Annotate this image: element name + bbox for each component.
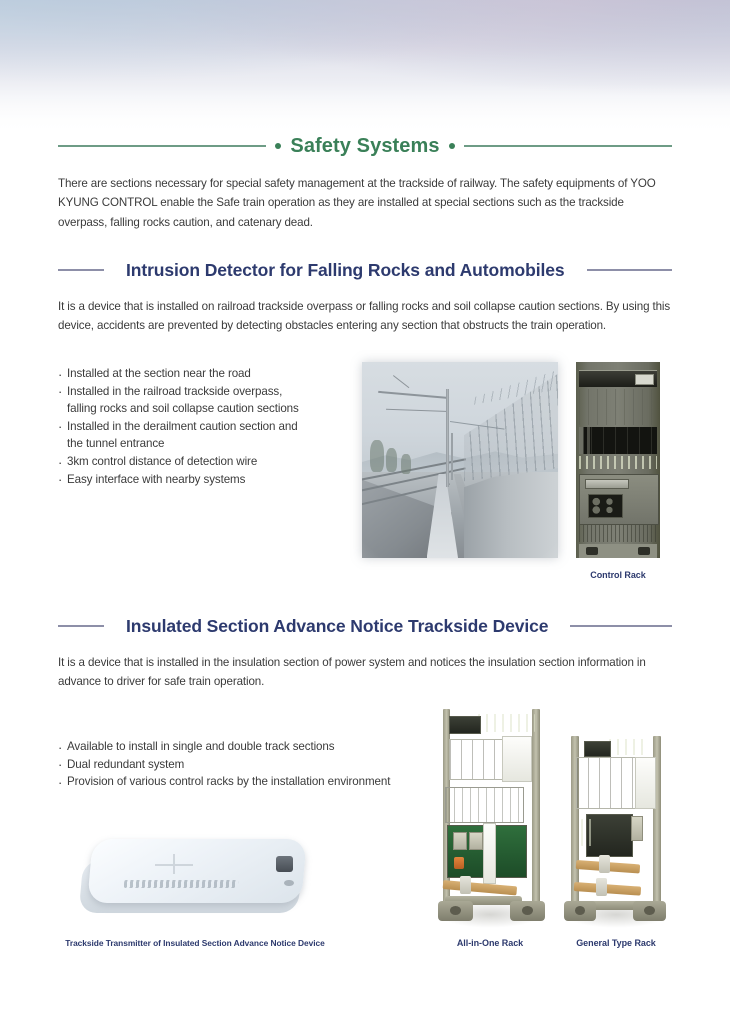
section-1-paragraph: It is a device that is installed on rail… — [58, 297, 674, 336]
frame-foot-left — [438, 901, 473, 922]
transmitter-led-icon — [284, 880, 294, 886]
rack-top-connector — [449, 716, 481, 734]
section-1-rule-left — [58, 269, 104, 271]
section-2-rule-right — [570, 625, 672, 627]
rack-top-green-pcb — [609, 739, 649, 755]
rack-top-slot — [579, 370, 656, 387]
rack-relay-module-row — [449, 739, 506, 780]
transmitter-label-text — [123, 880, 238, 888]
rack-top-green-pcb — [478, 714, 535, 732]
rack-orange-lever — [454, 857, 464, 868]
control-rack-photo — [576, 362, 660, 558]
list-item: Installed in the railroad trackside over… — [58, 383, 358, 418]
frame-post-right — [532, 709, 539, 905]
rack-control-module-row — [445, 787, 524, 823]
trackside-transmitter-photo — [76, 832, 314, 924]
rack-insulator-bar — [442, 880, 517, 896]
section-2-paragraph: It is a device that is installed in the … — [58, 653, 674, 692]
transmitter-logo-icon — [155, 854, 193, 874]
list-item: Installed at the section near the road — [58, 365, 358, 383]
rack-insulator-block — [599, 855, 610, 873]
list-item: Easy interface with nearby systems — [58, 471, 358, 489]
title-dot-right-icon — [449, 143, 455, 149]
intro-paragraph: There are sections necessary for special… — [58, 174, 674, 232]
section-1-title: Intrusion Detector for Falling Rocks and… — [126, 260, 565, 281]
title-rule-left — [58, 145, 266, 147]
rack-insulator-block — [460, 876, 471, 894]
list-item: Installed in the derailment caution sect… — [58, 418, 358, 453]
list-item: Available to install in single and doubl… — [58, 738, 428, 756]
rack-divider-panel — [483, 823, 496, 884]
general-type-rack-caption: General Type Rack — [554, 938, 678, 948]
page-title: Safety Systems — [290, 135, 439, 158]
rack-mid-compartment — [579, 474, 658, 525]
general-type-rack-photo — [554, 700, 678, 928]
rack-inner-pcb — [581, 819, 593, 846]
rack-inner-block — [453, 832, 467, 850]
rack-inner-block — [631, 816, 643, 841]
frame-foot-left — [564, 901, 596, 922]
rack-top-connector — [584, 741, 611, 757]
photo-vignette — [362, 362, 558, 558]
rack-feet — [579, 544, 656, 558]
rack-relay-module-row — [576, 757, 638, 809]
rack-side-panel — [635, 757, 657, 809]
list-item: Dual redundant system — [58, 756, 428, 774]
rack-inner-block — [469, 832, 483, 850]
rack-side-panel — [502, 736, 531, 781]
title-dot-left-icon — [275, 143, 281, 149]
rack-insulator-block — [596, 878, 607, 896]
section-1-bullet-list: Installed at the section near the road I… — [58, 365, 358, 488]
frame-foot-right — [633, 901, 665, 922]
trackside-transmitter-caption: Trackside Transmitter of Insulated Secti… — [40, 938, 350, 948]
transmitter-connector-port — [276, 856, 293, 872]
title-rule-right — [464, 145, 672, 147]
rack-insulator-bar — [574, 882, 641, 896]
railway-trackside-photo — [362, 362, 558, 558]
list-item: 3km control distance of detection wire — [58, 453, 358, 471]
section-1-heading-row: Intrusion Detector for Falling Rocks and… — [58, 256, 672, 284]
control-rack-caption: Control Rack — [576, 570, 660, 580]
list-item: Provision of various control racks by th… — [58, 773, 428, 791]
rack-card-cage — [579, 389, 656, 424]
rack-terminal-block — [579, 525, 656, 543]
section-2-rule-left — [58, 625, 104, 627]
rack-black-module — [579, 427, 656, 454]
all-in-one-rack-caption: All-in-One Rack — [428, 938, 552, 948]
section-2-title: Insulated Section Advance Notice Tracksi… — [126, 616, 548, 637]
all-in-one-rack-photo — [428, 700, 552, 928]
frame-foot-right — [510, 901, 545, 922]
section-2-bullet-list: Available to install in single and doubl… — [58, 738, 428, 791]
transmitter-cover — [87, 839, 307, 903]
section-2-heading-row: Insulated Section Advance Notice Tracksi… — [58, 612, 672, 640]
main-title-row: Safety Systems — [58, 130, 672, 162]
section-1-rule-right — [587, 269, 673, 271]
brochure-page: Safety Systems There are sections necess… — [0, 0, 730, 1024]
rack-green-pcb — [579, 456, 656, 469]
